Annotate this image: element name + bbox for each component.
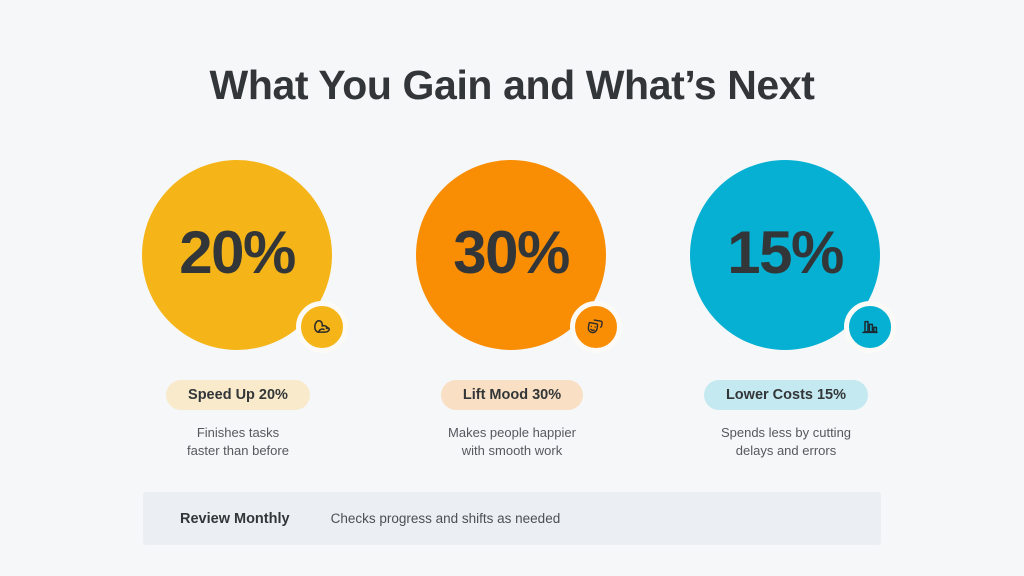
- metric-badge-2: [570, 301, 622, 353]
- metric-value-2: 30%: [453, 223, 569, 283]
- metric-badge-3: [844, 301, 896, 353]
- metrics-row: 20% Speed Up 20% Finishes task: [113, 150, 911, 460]
- metric-value-3: 15%: [727, 223, 843, 283]
- slide-canvas: What You Gain and What’s Next 20%: [0, 0, 1024, 576]
- footer-bar: Review Monthly Checks progress and shift…: [143, 492, 881, 545]
- footer-text: Checks progress and shifts as needed: [331, 511, 561, 526]
- page-title: What You Gain and What’s Next: [0, 62, 1024, 109]
- metric-circle-wrap-3: 15%: [690, 150, 882, 350]
- metric-pill-1: Speed Up 20%: [166, 380, 310, 410]
- metric-caption-3: Spends less by cutting delays and errors: [721, 424, 851, 460]
- bar-chart-icon: [858, 315, 882, 339]
- metric-card-1: 20% Speed Up 20% Finishes task: [113, 150, 363, 460]
- metric-pill-label-1: Speed Up 20%: [188, 387, 288, 403]
- footer-label: Review Monthly: [180, 511, 290, 527]
- metric-value-1: 20%: [179, 223, 295, 283]
- metric-pill-2: Lift Mood 30%: [441, 380, 583, 410]
- metric-pill-label-3: Lower Costs 15%: [726, 387, 846, 403]
- metric-caption-2: Makes people happier with smooth work: [448, 424, 576, 460]
- metric-badge-1: [296, 301, 348, 353]
- metric-circle-wrap-1: 20%: [142, 150, 334, 350]
- metric-caption-1: Finishes tasks faster than before: [187, 424, 289, 460]
- metric-circle-wrap-2: 30%: [416, 150, 608, 350]
- metric-pill-3: Lower Costs 15%: [704, 380, 868, 410]
- metric-pill-label-2: Lift Mood 30%: [463, 387, 561, 403]
- metric-card-3: 15% Lower Costs 15% Spends les: [661, 150, 911, 460]
- muscle-flex-icon: [310, 315, 334, 339]
- theater-masks-icon: [584, 315, 608, 339]
- metric-card-2: 30% Lift Mood 30%: [387, 150, 637, 460]
